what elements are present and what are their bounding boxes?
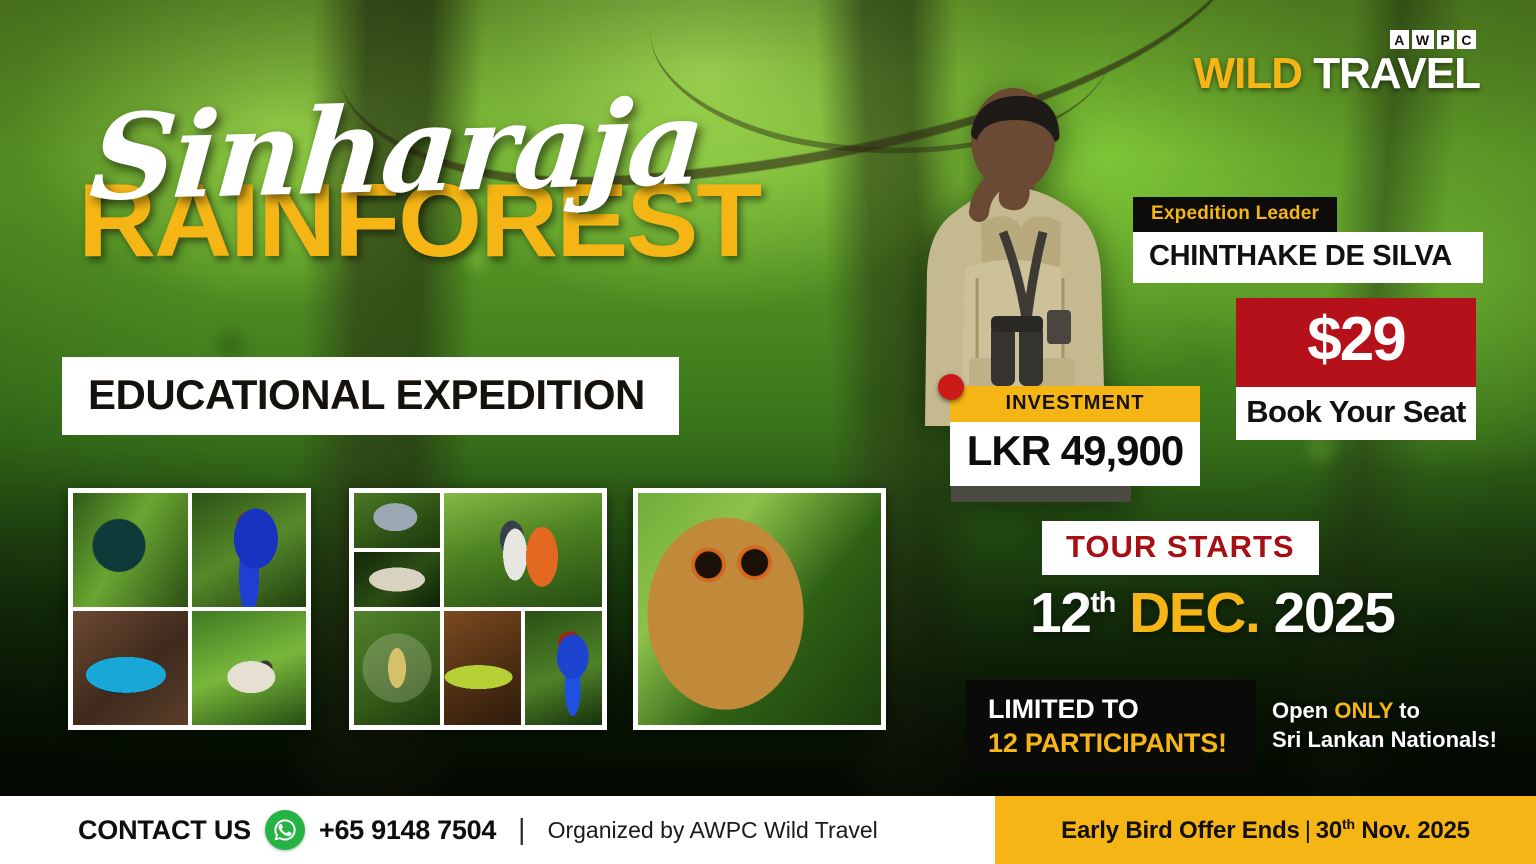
- book-your-seat-button[interactable]: Book Your Seat: [1236, 387, 1476, 440]
- book-your-seat-label: Book Your Seat: [1246, 394, 1466, 429]
- tour-year: 2025: [1274, 581, 1395, 645]
- awpc-letter-w: W: [1412, 30, 1434, 49]
- eligibility-note: Open ONLY to Sri Lankan Nationals!: [1272, 696, 1522, 754]
- tour-month: DEC.: [1129, 581, 1259, 645]
- blue-butterfly-photo: [73, 611, 188, 725]
- participants-count: 12 PARTICIPANTS!: [988, 728, 1256, 759]
- tour-starts-label: TOUR STARTS: [1066, 529, 1295, 564]
- serendib-scops-owl-photo: [638, 493, 881, 725]
- purple-faced-langur-photo: [192, 611, 307, 725]
- moth-photo: [354, 552, 440, 607]
- organizer-credit: Organized by AWPC Wild Travel: [548, 817, 878, 844]
- eligibility-post: to: [1393, 698, 1420, 723]
- early-bird-label: Early Bird Offer Ends: [1061, 817, 1300, 844]
- contact-us-label: CONTACT US: [78, 815, 251, 846]
- early-bird-bar: Early Bird Offer Ends|30th Nov. 2025: [995, 796, 1536, 864]
- logo-word-wild: WILD: [1194, 49, 1302, 98]
- trekkers-in-forest-photo: [444, 493, 602, 607]
- poster-footer: CONTACT US +65 9148 7504 | Organized by …: [0, 796, 1536, 864]
- early-bird-text: Early Bird Offer Ends|30th Nov. 2025: [1061, 816, 1470, 845]
- logo-wordmark: WILD TRAVEL: [1194, 52, 1480, 96]
- limited-to-label: LIMITED TO: [988, 694, 1256, 725]
- investment-amount: LKR 49,900: [950, 422, 1200, 486]
- green-billed-coucal-photo: [73, 493, 188, 607]
- eligibility-emphasis: ONLY: [1334, 698, 1393, 723]
- rainforest-frog-photo: [354, 493, 440, 548]
- investment-label: INVESTMENT: [950, 386, 1200, 422]
- expedition-leader-block: Expedition Leader CHINTHAKE DE SILVA: [1133, 197, 1483, 283]
- tour-day: 12: [1030, 581, 1090, 645]
- expedition-leader-label: Expedition Leader: [1133, 197, 1337, 232]
- footer-divider: |: [518, 814, 526, 847]
- awpc-letter-a: A: [1390, 30, 1409, 49]
- golden-orb-spider-photo: [354, 611, 440, 725]
- subtitle-text: EDUCATIONAL EXPEDITION: [88, 371, 645, 418]
- price-amount-box: $29: [1236, 298, 1476, 387]
- sri-lanka-blue-magpie-photo: [192, 493, 307, 607]
- contact-phone-number[interactable]: +65 9148 7504: [319, 815, 496, 846]
- awpc-badge: A W P C: [1194, 30, 1476, 49]
- awpc-letter-c: C: [1457, 30, 1476, 49]
- eligibility-pre: Open: [1272, 698, 1334, 723]
- frog-and-moth-stack: [354, 493, 440, 607]
- viper-and-magpie-pair: [444, 611, 602, 725]
- blue-magpie-perched-photo: [525, 611, 602, 725]
- tour-start-date: 12th DEC. 2025: [1030, 585, 1490, 642]
- brand-logo: A W P C WILD TRAVEL: [1194, 30, 1480, 96]
- tour-starts-badge: TOUR STARTS: [1042, 521, 1319, 575]
- awpc-letter-p: P: [1437, 30, 1455, 49]
- headline-script-sinharaja: Sinharaja: [73, 87, 739, 213]
- investment-accent-dot: [938, 374, 964, 400]
- promotional-poster: A W P C WILD TRAVEL Sinharaja RAINFOREST…: [0, 0, 1536, 864]
- early-bird-day-suffix: th: [1342, 816, 1355, 832]
- owl-feature-photo: [633, 488, 886, 730]
- tour-start-block: TOUR STARTS 12th DEC. 2025: [1030, 521, 1490, 642]
- logo-word-travel: TRAVEL: [1313, 49, 1480, 98]
- subtitle-bar: EDUCATIONAL EXPEDITION: [62, 357, 679, 435]
- wildlife-collage-two: [349, 488, 607, 730]
- booking-price-card[interactable]: $29 Book Your Seat: [1236, 298, 1476, 440]
- eligibility-line-one: Open ONLY to: [1272, 696, 1522, 725]
- expedition-leader-name: CHINTHAKE DE SILVA: [1133, 232, 1483, 283]
- price-amount: $29: [1307, 305, 1404, 374]
- wildlife-collage-one: [68, 488, 311, 730]
- investment-block: INVESTMENT LKR 49,900: [950, 386, 1200, 486]
- eligibility-line-two: Sri Lankan Nationals!: [1272, 725, 1522, 754]
- whatsapp-icon[interactable]: [265, 810, 305, 850]
- tour-day-suffix: th: [1090, 587, 1114, 619]
- poster-headline: Sinharaja RAINFOREST: [78, 96, 734, 268]
- early-bird-separator: |: [1305, 817, 1311, 844]
- early-bird-day: 30: [1316, 817, 1342, 844]
- footer-contact-bar: CONTACT US +65 9148 7504 | Organized by …: [0, 796, 995, 864]
- limited-participants-box: LIMITED TO 12 PARTICIPANTS!: [966, 680, 1256, 772]
- early-bird-month-year: Nov. 2025: [1355, 817, 1470, 844]
- green-pit-viper-photo: [444, 611, 521, 725]
